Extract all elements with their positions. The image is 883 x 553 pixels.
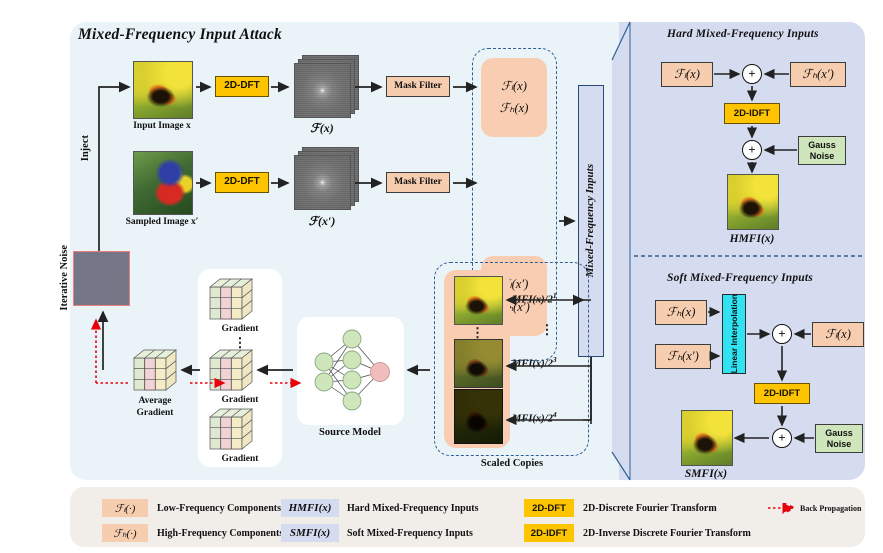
mask-filter-box-row2: Mask Filter bbox=[386, 172, 450, 193]
legend-swatch-high-freq: ℱₕ(·) bbox=[102, 524, 148, 542]
mask-filter-box-row1: Mask Filter bbox=[386, 76, 450, 97]
soft-high-freq-x-box: ℱₕ(x) bbox=[655, 300, 707, 325]
mfi-scale-text-2: MFI(x)/2 bbox=[512, 359, 553, 370]
soft-panel-title: Soft Mixed-Frequency Inputs bbox=[667, 272, 813, 284]
mfi-scale-exp-1: 1 bbox=[553, 291, 557, 300]
mfi-scale-text-1: MFI(x)/2 bbox=[512, 295, 553, 306]
spectrum-xp-caption: ℱ(x′) bbox=[282, 214, 362, 229]
average-gradient-cube bbox=[132, 348, 178, 392]
iterative-noise-label: Iterative Noise bbox=[59, 245, 70, 311]
hard-low-freq-box: ℱₗ(x) bbox=[661, 62, 713, 87]
inject-label: Inject bbox=[80, 135, 91, 161]
hard-panel-title: Hard Mixed-Frequency Inputs bbox=[667, 28, 819, 40]
legend-text-high-freq: High-Frequency Components bbox=[157, 528, 283, 539]
source-model-network bbox=[302, 322, 399, 420]
source-model-caption: Source Model bbox=[300, 427, 400, 438]
average-gradient-caption: AverageGradient bbox=[115, 396, 195, 420]
soft-interp-label: Linear Interpolation bbox=[730, 294, 739, 373]
mfi-scale-label-2: MFI(x)/23 bbox=[512, 355, 590, 370]
left-panel-title: Mixed-Frequency Input Attack bbox=[78, 26, 282, 44]
hard-sum-node-1: + bbox=[742, 64, 762, 84]
gradient-cube-mid bbox=[208, 348, 254, 392]
gradient-caption-top: Gradient bbox=[200, 324, 280, 334]
spectrum-x-caption: ℱ(x) bbox=[282, 121, 362, 136]
soft-output-caption: SMFI(x) bbox=[666, 468, 746, 480]
scaled-copy-2 bbox=[454, 339, 503, 388]
legend-text-dft: 2D-Discrete Fourier Transform bbox=[583, 503, 717, 514]
gradient-cube-bottom bbox=[208, 407, 254, 451]
gradient-caption-mid: Gradient bbox=[200, 395, 280, 405]
legend-swatch-dft: 2D-DFT bbox=[524, 499, 574, 517]
soft-low-freq-box: ℱₗ(x) bbox=[812, 322, 864, 347]
soft-output-image bbox=[681, 410, 733, 466]
components-x-group: ℱₗ(x) ℱₕ(x) bbox=[481, 58, 547, 137]
scaled-copies-caption: Scaled Copies bbox=[452, 458, 572, 469]
legend-text-back-propagation: Back Propagation bbox=[800, 504, 861, 513]
input-image-caption: Input Image x bbox=[103, 121, 221, 131]
legend-swatch-low-freq: ℱₗ(·) bbox=[102, 499, 148, 517]
mfi-scale-label-3: MFI(x)/24 bbox=[512, 410, 590, 425]
legend-swatch-idft: 2D-IDFT bbox=[524, 524, 574, 542]
scaled-copy-1 bbox=[454, 276, 503, 325]
legend-text-idft: 2D-Inverse Discrete Fourier Transform bbox=[583, 528, 751, 539]
gradient-caption-bottom: Gradient bbox=[200, 454, 280, 464]
legend-text-smfi: Soft Mixed-Frequency Inputs bbox=[347, 528, 473, 539]
legend-swatch-smfi: SMFI(x) bbox=[281, 524, 339, 542]
soft-gauss-line2: Noise bbox=[827, 439, 852, 449]
hard-high-freq-box: ℱₕ(x′) bbox=[790, 62, 846, 87]
soft-idft-box: 2D-IDFT bbox=[754, 383, 810, 404]
legend-text-low-freq: Low-Frequency Components bbox=[157, 503, 281, 514]
input-image-thumbnail bbox=[133, 61, 193, 119]
hard-gauss-line1: Gauss bbox=[808, 140, 836, 150]
legend-swatch-hmfi: HMFI(x) bbox=[281, 499, 339, 517]
figure-canvas: Mixed-Frequency Input Attack Hard Mixed-… bbox=[0, 0, 883, 553]
soft-gauss-line1: Gauss bbox=[825, 428, 853, 438]
dft-box-row1: 2D-DFT bbox=[215, 76, 269, 97]
soft-high-freq-xp-box: ℱₕ(x′) bbox=[655, 344, 711, 369]
sampled-image-caption: Sampled Image x′ bbox=[98, 217, 226, 227]
component-high-x: ℱₕ(x) bbox=[500, 102, 529, 115]
soft-sum-node-2: + bbox=[772, 428, 792, 448]
right-panel-background bbox=[619, 22, 865, 480]
hard-gauss-noise-box: Gauss Noise bbox=[798, 136, 846, 165]
gradient-cube-top bbox=[208, 277, 254, 321]
spectrum-x-front bbox=[294, 63, 351, 118]
hard-sum-node-2: + bbox=[742, 140, 762, 160]
soft-sum-node-1: + bbox=[772, 324, 792, 344]
spectrum-xp-front bbox=[294, 155, 351, 210]
component-low-x: ℱₗ(x) bbox=[501, 80, 527, 93]
soft-gauss-noise-box: Gauss Noise bbox=[815, 424, 863, 453]
hard-idft-box: 2D-IDFT bbox=[724, 103, 780, 124]
mfi-scale-ellipsis: ⋮ bbox=[512, 322, 582, 338]
mixed-frequency-inputs-label: Mixed-Frequency Inputs bbox=[585, 164, 597, 277]
mfi-scale-exp-2: 3 bbox=[553, 355, 557, 364]
sampled-image-thumbnail bbox=[133, 151, 193, 215]
soft-linear-interpolation-box: Linear Interpolation bbox=[722, 294, 746, 374]
scaled-copy-3 bbox=[454, 389, 503, 444]
hard-output-caption: HMFI(x) bbox=[712, 233, 792, 245]
legend-text-hmfi: Hard Mixed-Frequency Inputs bbox=[347, 503, 479, 514]
mfi-scale-label-1: MFI(x)/21 bbox=[512, 291, 590, 306]
mfi-scale-text-3: MFI(x)/2 bbox=[512, 414, 553, 425]
iterative-noise-image bbox=[73, 251, 130, 306]
hard-gauss-line2: Noise bbox=[810, 151, 835, 161]
dft-box-row2: 2D-DFT bbox=[215, 172, 269, 193]
mfi-scale-exp-3: 4 bbox=[553, 410, 557, 419]
hard-output-image bbox=[727, 174, 779, 230]
